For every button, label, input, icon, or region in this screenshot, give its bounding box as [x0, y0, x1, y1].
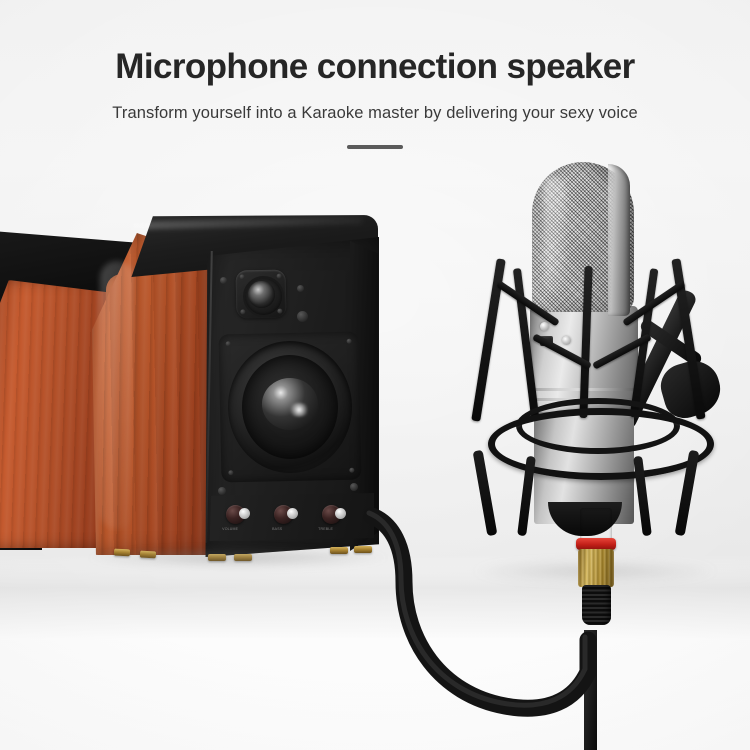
baffle-screw	[218, 487, 226, 495]
woofer-screw	[349, 468, 354, 473]
woofer-screw	[226, 341, 231, 346]
knob-treble[interactable]	[322, 505, 341, 524]
speaker-wood-highlight	[100, 261, 134, 529]
shock-mount-leg	[473, 450, 498, 536]
page-subtitle: Transform yourself into a Karaoke master…	[0, 87, 750, 123]
bookshelf-speaker: VOLUME BASS TREBLE	[92, 215, 387, 560]
tweeter-screw	[277, 274, 282, 279]
woofer-screw	[347, 339, 352, 344]
knob-indicator	[287, 508, 298, 519]
baffle-screw	[297, 285, 304, 292]
knob-indicator	[239, 508, 250, 519]
tweeter-screw	[240, 274, 245, 279]
speaker-shadow	[88, 548, 388, 568]
shock-mount-ring	[488, 408, 714, 480]
condenser-microphone	[470, 150, 720, 570]
knob-label-treble: TREBLE	[318, 527, 333, 531]
header-divider	[347, 145, 403, 149]
shock-mount	[470, 150, 720, 570]
shock-mount-strut	[513, 268, 539, 418]
product-banner: VOLUME BASS TREBLE	[0, 0, 750, 750]
xlr-gold-barrel	[578, 549, 614, 587]
knob-volume[interactable]	[226, 505, 245, 524]
woofer-driver	[218, 332, 361, 483]
speaker-control-panel: VOLUME BASS TREBLE	[208, 493, 374, 541]
baffle-screw	[350, 483, 358, 491]
page-title: Microphone connection speaker	[0, 0, 750, 87]
woofer-screw	[228, 470, 233, 475]
shock-mount-band	[496, 280, 560, 326]
baffle-screw	[220, 277, 227, 284]
knob-label-bass: BASS	[272, 527, 282, 531]
tweeter-dome	[247, 280, 275, 308]
baffle-port	[297, 311, 308, 322]
banner-header: Microphone connection speaker Transform …	[0, 0, 750, 149]
tweeter-screw	[277, 309, 282, 314]
xlr-gold-barrel-top	[580, 508, 612, 542]
knob-label-volume: VOLUME	[222, 527, 238, 531]
tweeter-screw	[240, 309, 245, 314]
tweeter-driver	[236, 269, 287, 318]
xlr-strain-relief	[582, 585, 611, 625]
shock-mount-strut	[579, 266, 592, 418]
xlr-connector	[566, 508, 626, 640]
knob-bass[interactable]	[274, 505, 293, 524]
knob-indicator	[335, 508, 346, 519]
microphone-stand-pole	[584, 630, 597, 750]
